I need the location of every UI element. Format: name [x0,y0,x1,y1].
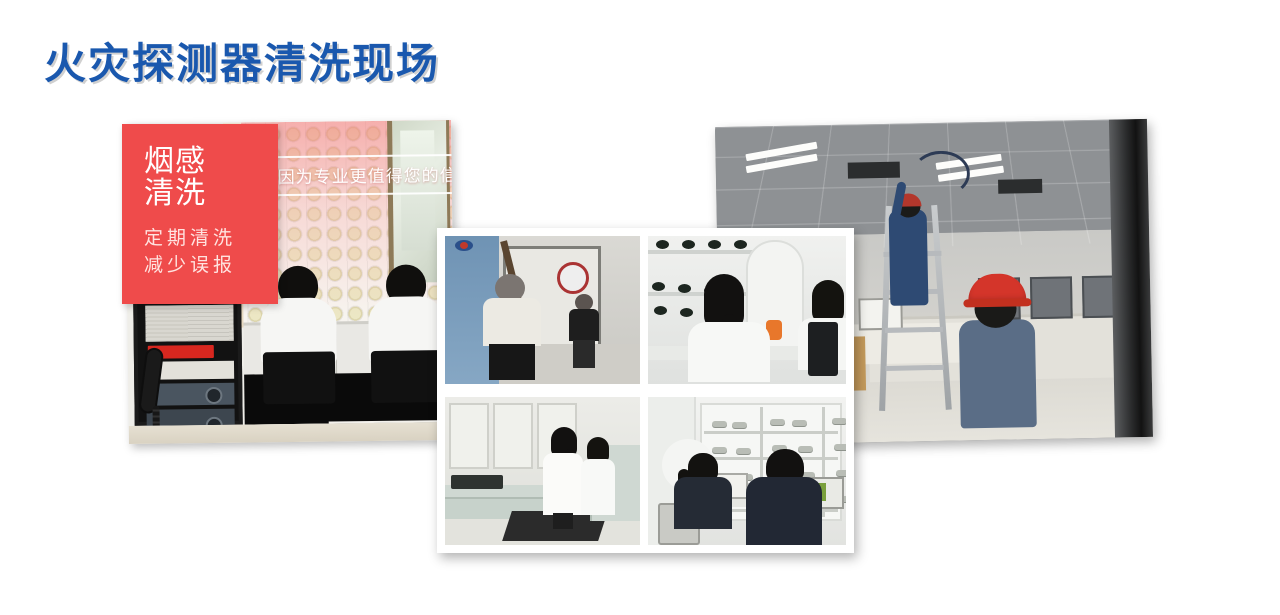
promo-badge: 烟感 清洗 定期清洗 减少误报 [122,124,278,304]
work-uniform [959,319,1037,428]
uniformed-worker-1 [674,453,732,537]
promo-subtext-line2: 减少误报 [144,252,278,280]
cleaning-technician-2 [581,437,615,519]
page-title: 火灾探测器清洗现场 [44,30,440,91]
promo-headline-line1: 烟感 [144,146,278,178]
detector-icon [708,240,721,249]
white-shirt [483,298,541,346]
collage-photo-bottom-left [445,397,640,545]
red-hard-hat-icon [968,273,1027,304]
dark-shirt [569,309,599,341]
knob-icon [205,387,222,404]
keypad-panel [145,305,233,342]
air-vent-icon [998,179,1042,194]
wall-sign-icon [455,240,473,251]
promo-page: 火灾探测器清洗现场 [0,0,1280,615]
collage-photo-top-left [445,236,640,384]
ladder-step [885,327,943,333]
uniformed-worker-2 [746,449,822,545]
person-foreground [479,274,543,378]
promo-subtext-line1: 定期清洗 [144,225,278,253]
cleaning-technician-1 [543,427,583,527]
wall-cabinet [449,403,489,469]
dark-trousers [489,344,535,380]
collage-caption-strip [445,386,846,395]
photo-bottom-frame [129,422,455,444]
phone-cord [153,406,161,426]
promo-subtext: 定期清洗 减少误报 [144,225,278,280]
legs [553,513,573,529]
worker-on-ladder [884,185,932,308]
ladder-step [886,365,944,371]
door-column [1109,119,1153,438]
air-vent-icon [848,162,900,179]
wash-sink [451,475,503,489]
photo-collage-card [437,228,854,553]
lab-coat [581,459,615,515]
navy-uniform [746,477,822,545]
detector-icon [652,282,665,291]
banner-slogan-text: 因为专业更值得您的信赖 [278,161,455,188]
person-background [567,294,601,366]
module-panel-1 [146,383,234,406]
lab-technician-1 [688,274,770,380]
wall-cabinet [493,403,533,469]
lab-coat [543,453,583,515]
wall-emblem-icon [557,262,589,294]
work-uniform [889,209,929,306]
chair [808,322,838,376]
fire-alarm-control-rack [133,293,243,426]
collage-photo-top-right [648,236,846,384]
detector-icon [682,240,695,249]
navy-uniform [674,477,732,529]
chair [371,350,444,403]
chair [263,351,336,404]
promo-headline-line2: 清洗 [144,178,278,210]
detector-icon [656,240,669,249]
detector-icon [734,240,747,249]
collage-photo-bottom-right [648,397,846,545]
lab-coat [688,322,770,382]
worker-with-red-helmet [944,255,1047,427]
module-panel-2 [147,409,235,426]
collage-grid [445,236,846,545]
dark-trousers [573,340,595,368]
promo-headline: 烟感 清洗 [144,146,278,211]
detector-icon [654,306,667,315]
banner-slogan: 因为专业更值得您的信赖 [277,154,454,196]
